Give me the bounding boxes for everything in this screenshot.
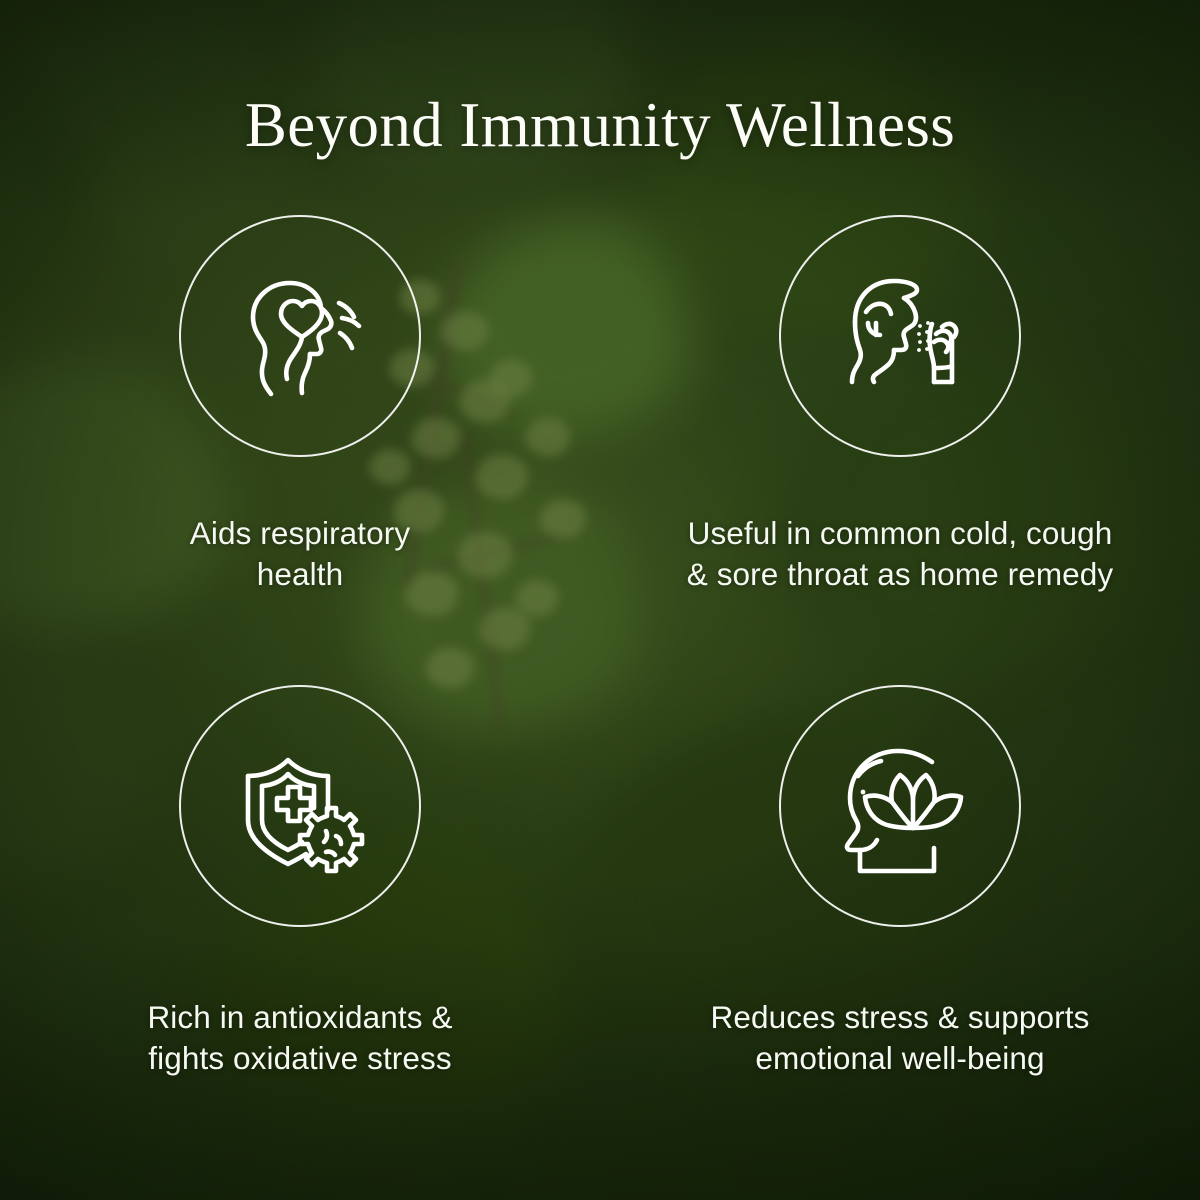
benefit-caption: Reduces stress & supports emotional well… — [711, 997, 1090, 1079]
benefit-icon-circle — [779, 685, 1021, 927]
head-profile-lotus-icon — [824, 730, 976, 882]
benefit-caption: Useful in common cold, cough & sore thro… — [687, 513, 1114, 595]
benefit-icon-circle — [179, 215, 421, 457]
benefit-item-stress-relief: Reduces stress & supports emotional well… — [600, 685, 1200, 1085]
poster-content: Beyond Immunity Wellness — [0, 0, 1200, 1200]
benefit-item-cold-cough: Useful in common cold, cough & sore thro… — [600, 215, 1200, 685]
wellness-benefits-poster: Beyond Immunity Wellness — [0, 0, 1200, 1200]
benefit-caption: Rich in antioxidants & fights oxidative … — [147, 997, 452, 1079]
page-title: Beyond Immunity Wellness — [0, 92, 1200, 158]
benefit-item-respiratory: Aids respiratory health — [0, 215, 600, 685]
shield-medical-cross-virus-icon — [226, 732, 374, 880]
respiratory-head-heart-breath-icon — [225, 261, 375, 411]
benefit-caption: Aids respiratory health — [190, 513, 410, 595]
coughing-person-hand-droplets-icon — [824, 260, 976, 412]
benefit-icon-circle — [179, 685, 421, 927]
benefit-item-antioxidants: Rich in antioxidants & fights oxidative … — [0, 685, 600, 1085]
benefits-grid: Aids respiratory health — [0, 215, 1200, 1085]
benefit-icon-circle — [779, 215, 1021, 457]
